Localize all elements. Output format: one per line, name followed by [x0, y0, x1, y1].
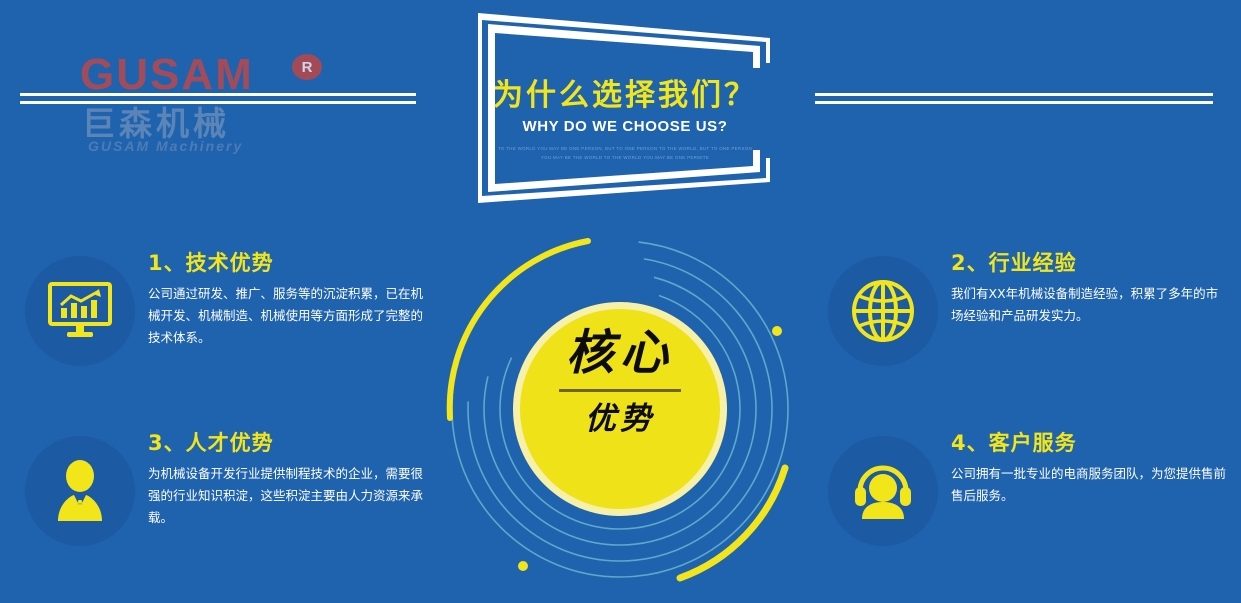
feature-3-heading: 人才优势: [186, 431, 274, 455]
feature-2-heading: 行业经验: [989, 251, 1077, 275]
banner-micro-text: TO THE WORLD YOU MAY BE ONE PERSON, BUT …: [494, 144, 756, 162]
feature-4-index: 4、: [951, 431, 989, 455]
feature-3-index: 3、: [148, 431, 186, 455]
feature-1-title: 1、技术优势: [148, 248, 426, 278]
header-rule-right-top: [815, 93, 1213, 96]
feature-1-badge: [25, 256, 135, 366]
brand-logo: GUSAM R 巨森机械 GUSAM Machinery: [0, 42, 440, 162]
feature-1-heading: 技术优势: [186, 251, 274, 275]
feature-card-3: 3、人才优势 为机械设备开发行业提供制程技术的企业，需要很强的行业知识积淀，这些…: [25, 428, 425, 568]
feature-4-body: 4、客户服务 公司拥有一批专业的电商服务团队，为您提供售前售后服务。: [951, 428, 1229, 507]
feature-2-title: 2、行业经验: [951, 248, 1229, 278]
feature-4-heading: 客户服务: [989, 431, 1077, 455]
brand-name: GUSAM: [80, 50, 254, 100]
orbit-dot-right: [772, 326, 782, 336]
orbit-dot-bottom: [518, 561, 528, 571]
poster-canvas: GUSAM R 巨森机械 GUSAM Machinery 为什么选择我们？ WH…: [0, 0, 1241, 603]
feature-4-title: 4、客户服务: [951, 428, 1229, 458]
feature-4-description: 公司拥有一批专业的电商服务团队，为您提供售前售后服务。: [951, 463, 1229, 507]
registered-trademark-icon: R: [292, 54, 322, 80]
feature-1-body: 1、技术优势 公司通过研发、推广、服务等的沉淀积累，已在机械开发、机械制造、机械…: [148, 248, 426, 349]
brand-tagline: GUSAM Machinery: [88, 138, 243, 154]
header-rule-right-bottom: [815, 101, 1213, 104]
feature-1-description: 公司通过研发、推广、服务等的沉淀积累，已在机械开发、机械制造、机械使用等方面形成…: [148, 283, 426, 349]
feature-2-badge: [828, 256, 938, 366]
feature-2-description: 我们有XX年机械设备制造经验，积累了多年的市场经验和产品研发实力。: [951, 283, 1229, 327]
feature-3-title: 3、人才优势: [148, 428, 426, 458]
feature-3-badge: [25, 436, 135, 546]
orbit-rings-icon: [430, 228, 810, 590]
feature-card-2: 2、行业经验 我们有XX年机械设备制造经验，积累了多年的市场经验和产品研发实力。: [828, 248, 1228, 388]
feature-1-index: 1、: [148, 251, 186, 275]
banner-header: 为什么选择我们？ WHY DO WE CHOOSE US? TO THE WOR…: [470, 8, 780, 208]
feature-2-index: 2、: [951, 251, 989, 275]
feature-card-4: 4、客户服务 公司拥有一批专业的电商服务团队，为您提供售前售后服务。: [828, 428, 1228, 568]
feature-3-body: 3、人才优势 为机械设备开发行业提供制程技术的企业，需要很强的行业知识积淀，这些…: [148, 428, 426, 529]
globe-icon: [851, 279, 915, 343]
feature-card-1: 1、技术优势 公司通过研发、推广、服务等的沉淀积累，已在机械开发、机械制造、机械…: [25, 248, 425, 388]
feature-4-badge: [828, 436, 938, 546]
headset-support-icon: [850, 461, 916, 521]
banner-subtitle: WHY DO WE CHOOSE US?: [470, 118, 780, 135]
businessman-icon: [48, 459, 112, 523]
banner-title: 为什么选择我们？: [470, 70, 780, 114]
core-advantage-graphic: 核心 优势: [430, 228, 810, 590]
feature-2-body: 2、行业经验 我们有XX年机械设备制造经验，积累了多年的市场经验和产品研发实力。: [951, 248, 1229, 327]
monitor-chart-icon: [47, 281, 113, 341]
feature-3-description: 为机械设备开发行业提供制程技术的企业，需要很强的行业知识积淀，这些积淀主要由人力…: [148, 463, 426, 529]
